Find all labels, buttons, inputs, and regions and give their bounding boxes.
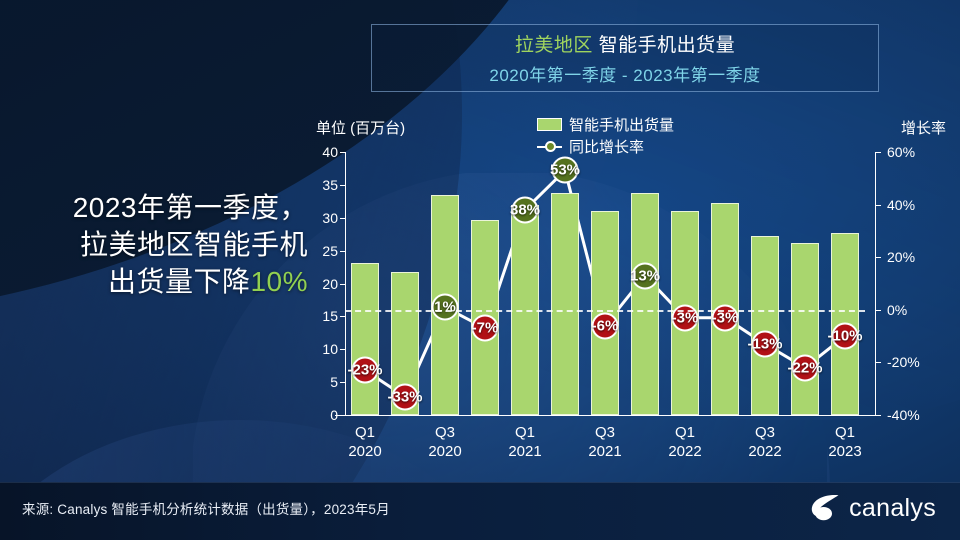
growth-data-label: -23% <box>347 362 382 379</box>
chart-area: 单位 (百万台) 增长率 智能手机出货量 同比增长率 0510152025303… <box>0 0 960 540</box>
y-tick-label: 30 <box>322 210 338 226</box>
growth-data-label: 38% <box>510 201 540 218</box>
y2-tick-label: 0% <box>887 302 907 318</box>
x-tick-year: 2020 <box>348 443 381 462</box>
x-tick-quarter: Q3 <box>748 424 781 443</box>
x-axis-line <box>335 415 877 416</box>
y-tick-label: 15 <box>322 308 338 324</box>
x-tick-label: Q12022 <box>668 424 701 462</box>
x-tick-quarter: Q1 <box>348 424 381 443</box>
y-tick-label: 35 <box>322 177 338 193</box>
growth-data-label: -6% <box>592 317 619 334</box>
line-marker-icon <box>537 140 562 153</box>
bar-swatch-icon <box>537 118 562 131</box>
canalys-swoosh-icon <box>808 493 842 523</box>
source-note: 来源: Canalys 智能手机分析统计数据（出货量），2023年5月 <box>22 498 390 518</box>
chart-legend: 智能手机出货量 同比增长率 <box>537 113 674 157</box>
growth-data-label: -10% <box>827 328 862 345</box>
x-tick-year: 2020 <box>428 443 461 462</box>
x-tick-quarter: Q3 <box>428 424 461 443</box>
x-tick-year: 2021 <box>588 443 621 462</box>
y2-tick-label: 20% <box>887 249 915 265</box>
y2-tick-label: -40% <box>887 407 920 423</box>
x-tick-label: Q12021 <box>508 424 541 462</box>
y2-tick-label: -20% <box>887 354 920 370</box>
x-tick-label: Q32021 <box>588 424 621 462</box>
x-tick-year: 2022 <box>748 443 781 462</box>
growth-data-label: -33% <box>387 388 422 405</box>
legend-label-shipments: 智能手机出货量 <box>569 114 674 135</box>
y2-axis-line <box>875 152 876 415</box>
x-tick-year: 2022 <box>668 443 701 462</box>
bar <box>351 263 379 415</box>
y-tick-label: 40 <box>322 144 338 160</box>
bar <box>791 243 819 415</box>
y-tick-label: 25 <box>322 243 338 259</box>
growth-data-label: -7% <box>472 320 499 337</box>
y-axis-left: 0510152025303540 <box>300 152 338 415</box>
y2-axis-label: 增长率 <box>901 117 946 138</box>
growth-data-label: 53% <box>550 162 580 179</box>
x-tick-quarter: Q1 <box>508 424 541 443</box>
x-tick-quarter: Q3 <box>588 424 621 443</box>
x-tick-year: 2023 <box>828 443 861 462</box>
x-tick-year: 2021 <box>508 443 541 462</box>
x-tick-label: Q12023 <box>828 424 861 462</box>
x-tick-quarter: Q1 <box>668 424 701 443</box>
bar <box>551 193 579 415</box>
x-tick-label: Q12020 <box>348 424 381 462</box>
zero-gridline <box>345 310 865 312</box>
y2-tick-label: 60% <box>887 144 915 160</box>
canalys-logo: canalys <box>808 493 936 523</box>
x-tick-label: Q32020 <box>428 424 461 462</box>
x-tick-quarter: Q1 <box>828 424 861 443</box>
y-tick-label: 10 <box>322 341 338 357</box>
bar <box>631 193 659 415</box>
y2-tick-label: 40% <box>887 197 915 213</box>
x-tick-label: Q32022 <box>748 424 781 462</box>
slide-canvas: 2023年第一季度， 拉美地区智能手机 出货量下降10% 拉美地区 智能手机出货… <box>0 0 960 540</box>
y-axis-label: 单位 (百万台) <box>316 117 405 138</box>
legend-item-shipments: 智能手机出货量 <box>537 113 674 135</box>
canalys-wordmark: canalys <box>849 494 936 523</box>
bar <box>751 236 779 415</box>
y-tick-label: 5 <box>330 374 338 390</box>
growth-data-label: 13% <box>630 267 660 284</box>
growth-data-label: 1% <box>434 299 456 316</box>
growth-data-label: -13% <box>747 335 782 352</box>
y-axis-right: -40%-20%0%20%40%60% <box>875 152 935 415</box>
growth-data-label: -22% <box>787 359 822 376</box>
y-tick-label: 20 <box>322 276 338 292</box>
